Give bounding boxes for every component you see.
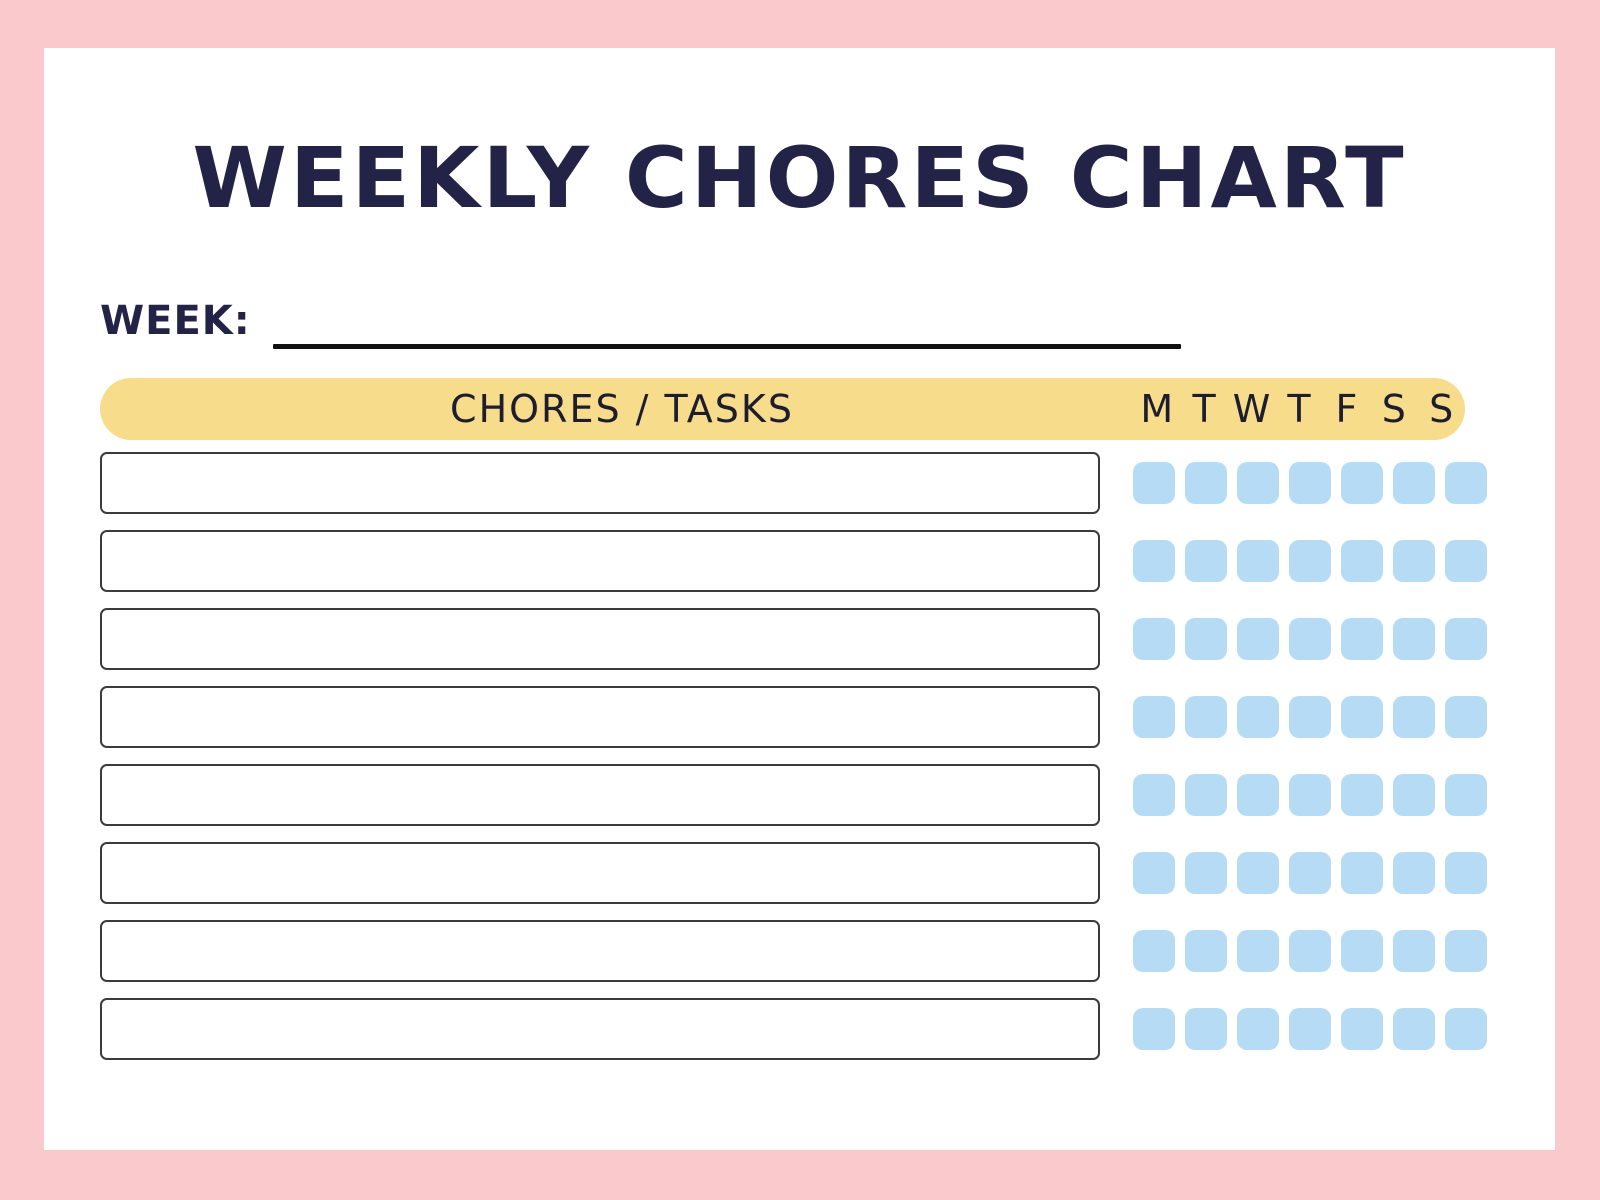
task-name-input[interactable]: [100, 686, 1100, 748]
column-headers-days: MTWTFSS: [1133, 378, 1465, 440]
checkbox-tuesday[interactable]: [1185, 696, 1227, 738]
checkbox-sunday[interactable]: [1445, 540, 1487, 582]
checkbox-wednesday[interactable]: [1237, 696, 1279, 738]
checkbox-thursday[interactable]: [1289, 540, 1331, 582]
checkbox-saturday[interactable]: [1393, 696, 1435, 738]
checkbox-thursday[interactable]: [1289, 696, 1331, 738]
checkbox-sunday[interactable]: [1445, 774, 1487, 816]
checkbox-monday[interactable]: [1133, 852, 1175, 894]
checkbox-friday[interactable]: [1341, 618, 1383, 660]
checkbox-monday[interactable]: [1133, 1008, 1175, 1050]
checkbox-monday[interactable]: [1133, 540, 1175, 582]
checkbox-wednesday[interactable]: [1237, 852, 1279, 894]
checkbox-sunday[interactable]: [1445, 852, 1487, 894]
day-checkbox-group: [1133, 842, 1465, 904]
checkbox-saturday[interactable]: [1393, 462, 1435, 504]
checkbox-monday[interactable]: [1133, 774, 1175, 816]
checkbox-wednesday[interactable]: [1237, 930, 1279, 972]
checkbox-thursday[interactable]: [1289, 852, 1331, 894]
task-name-input[interactable]: [100, 998, 1100, 1060]
week-input-line[interactable]: [273, 344, 1181, 349]
checkbox-wednesday[interactable]: [1237, 618, 1279, 660]
checkbox-thursday[interactable]: [1289, 1008, 1331, 1050]
day-checkbox-group: [1133, 920, 1465, 982]
checkbox-friday[interactable]: [1341, 696, 1383, 738]
day-header-wednesday: W: [1228, 378, 1275, 440]
checkbox-wednesday[interactable]: [1237, 540, 1279, 582]
task-name-input[interactable]: [100, 764, 1100, 826]
table-row: [100, 842, 1465, 904]
checkbox-friday[interactable]: [1341, 930, 1383, 972]
checkbox-sunday[interactable]: [1445, 618, 1487, 660]
week-label: WEEK:: [100, 295, 251, 347]
table-row: [100, 998, 1465, 1060]
day-checkbox-group: [1133, 608, 1465, 670]
day-header-friday: F: [1323, 378, 1370, 440]
task-name-input[interactable]: [100, 452, 1100, 514]
table-row: [100, 608, 1465, 670]
checkbox-monday[interactable]: [1133, 462, 1175, 504]
checkbox-friday[interactable]: [1341, 852, 1383, 894]
day-header-saturday: S: [1370, 378, 1417, 440]
checkbox-sunday[interactable]: [1445, 1008, 1487, 1050]
day-header-sunday: S: [1418, 378, 1465, 440]
day-checkbox-group: [1133, 530, 1465, 592]
checkbox-thursday[interactable]: [1289, 462, 1331, 504]
task-name-input[interactable]: [100, 608, 1100, 670]
checkbox-wednesday[interactable]: [1237, 1008, 1279, 1050]
task-name-input[interactable]: [100, 530, 1100, 592]
checkbox-tuesday[interactable]: [1185, 540, 1227, 582]
checkbox-sunday[interactable]: [1445, 696, 1487, 738]
checkbox-friday[interactable]: [1341, 540, 1383, 582]
checkbox-friday[interactable]: [1341, 774, 1383, 816]
table-row: [100, 452, 1465, 514]
day-header-tuesday: T: [1180, 378, 1227, 440]
checkbox-thursday[interactable]: [1289, 930, 1331, 972]
checkbox-monday[interactable]: [1133, 930, 1175, 972]
checkbox-wednesday[interactable]: [1237, 774, 1279, 816]
table-header-bar: CHORES / TASKS MTWTFSS: [100, 378, 1465, 440]
checkbox-tuesday[interactable]: [1185, 774, 1227, 816]
day-header-thursday: T: [1275, 378, 1322, 440]
chart-sheet: WEEKLY CHORES CHART WEEK: CHORES / TASKS…: [44, 48, 1555, 1150]
checkbox-friday[interactable]: [1341, 462, 1383, 504]
task-name-input[interactable]: [100, 842, 1100, 904]
table-row: [100, 530, 1465, 592]
task-name-input[interactable]: [100, 920, 1100, 982]
checkbox-tuesday[interactable]: [1185, 852, 1227, 894]
day-checkbox-group: [1133, 998, 1465, 1060]
table-row: [100, 764, 1465, 826]
page-title: WEEKLY CHORES CHART: [29, 136, 1570, 220]
checkbox-tuesday[interactable]: [1185, 930, 1227, 972]
checkbox-thursday[interactable]: [1289, 618, 1331, 660]
table-row: [100, 686, 1465, 748]
checkbox-tuesday[interactable]: [1185, 462, 1227, 504]
day-checkbox-group: [1133, 686, 1465, 748]
checkbox-saturday[interactable]: [1393, 852, 1435, 894]
checkbox-saturday[interactable]: [1393, 774, 1435, 816]
checkbox-saturday[interactable]: [1393, 540, 1435, 582]
week-field-row: WEEK:: [100, 295, 1200, 357]
checkbox-saturday[interactable]: [1393, 618, 1435, 660]
checkbox-wednesday[interactable]: [1237, 462, 1279, 504]
column-header-tasks: CHORES / TASKS: [100, 378, 1144, 440]
day-checkbox-group: [1133, 764, 1465, 826]
day-checkbox-group: [1133, 452, 1465, 514]
checkbox-sunday[interactable]: [1445, 930, 1487, 972]
checkbox-friday[interactable]: [1341, 1008, 1383, 1050]
checkbox-monday[interactable]: [1133, 696, 1175, 738]
checkbox-thursday[interactable]: [1289, 774, 1331, 816]
checkbox-saturday[interactable]: [1393, 930, 1435, 972]
checkbox-tuesday[interactable]: [1185, 618, 1227, 660]
day-header-monday: M: [1133, 378, 1180, 440]
checkbox-sunday[interactable]: [1445, 462, 1487, 504]
checkbox-monday[interactable]: [1133, 618, 1175, 660]
table-row: [100, 920, 1465, 982]
checkbox-tuesday[interactable]: [1185, 1008, 1227, 1050]
chore-rows: [100, 452, 1465, 1060]
page-frame: WEEKLY CHORES CHART WEEK: CHORES / TASKS…: [0, 0, 1600, 1200]
checkbox-saturday[interactable]: [1393, 1008, 1435, 1050]
